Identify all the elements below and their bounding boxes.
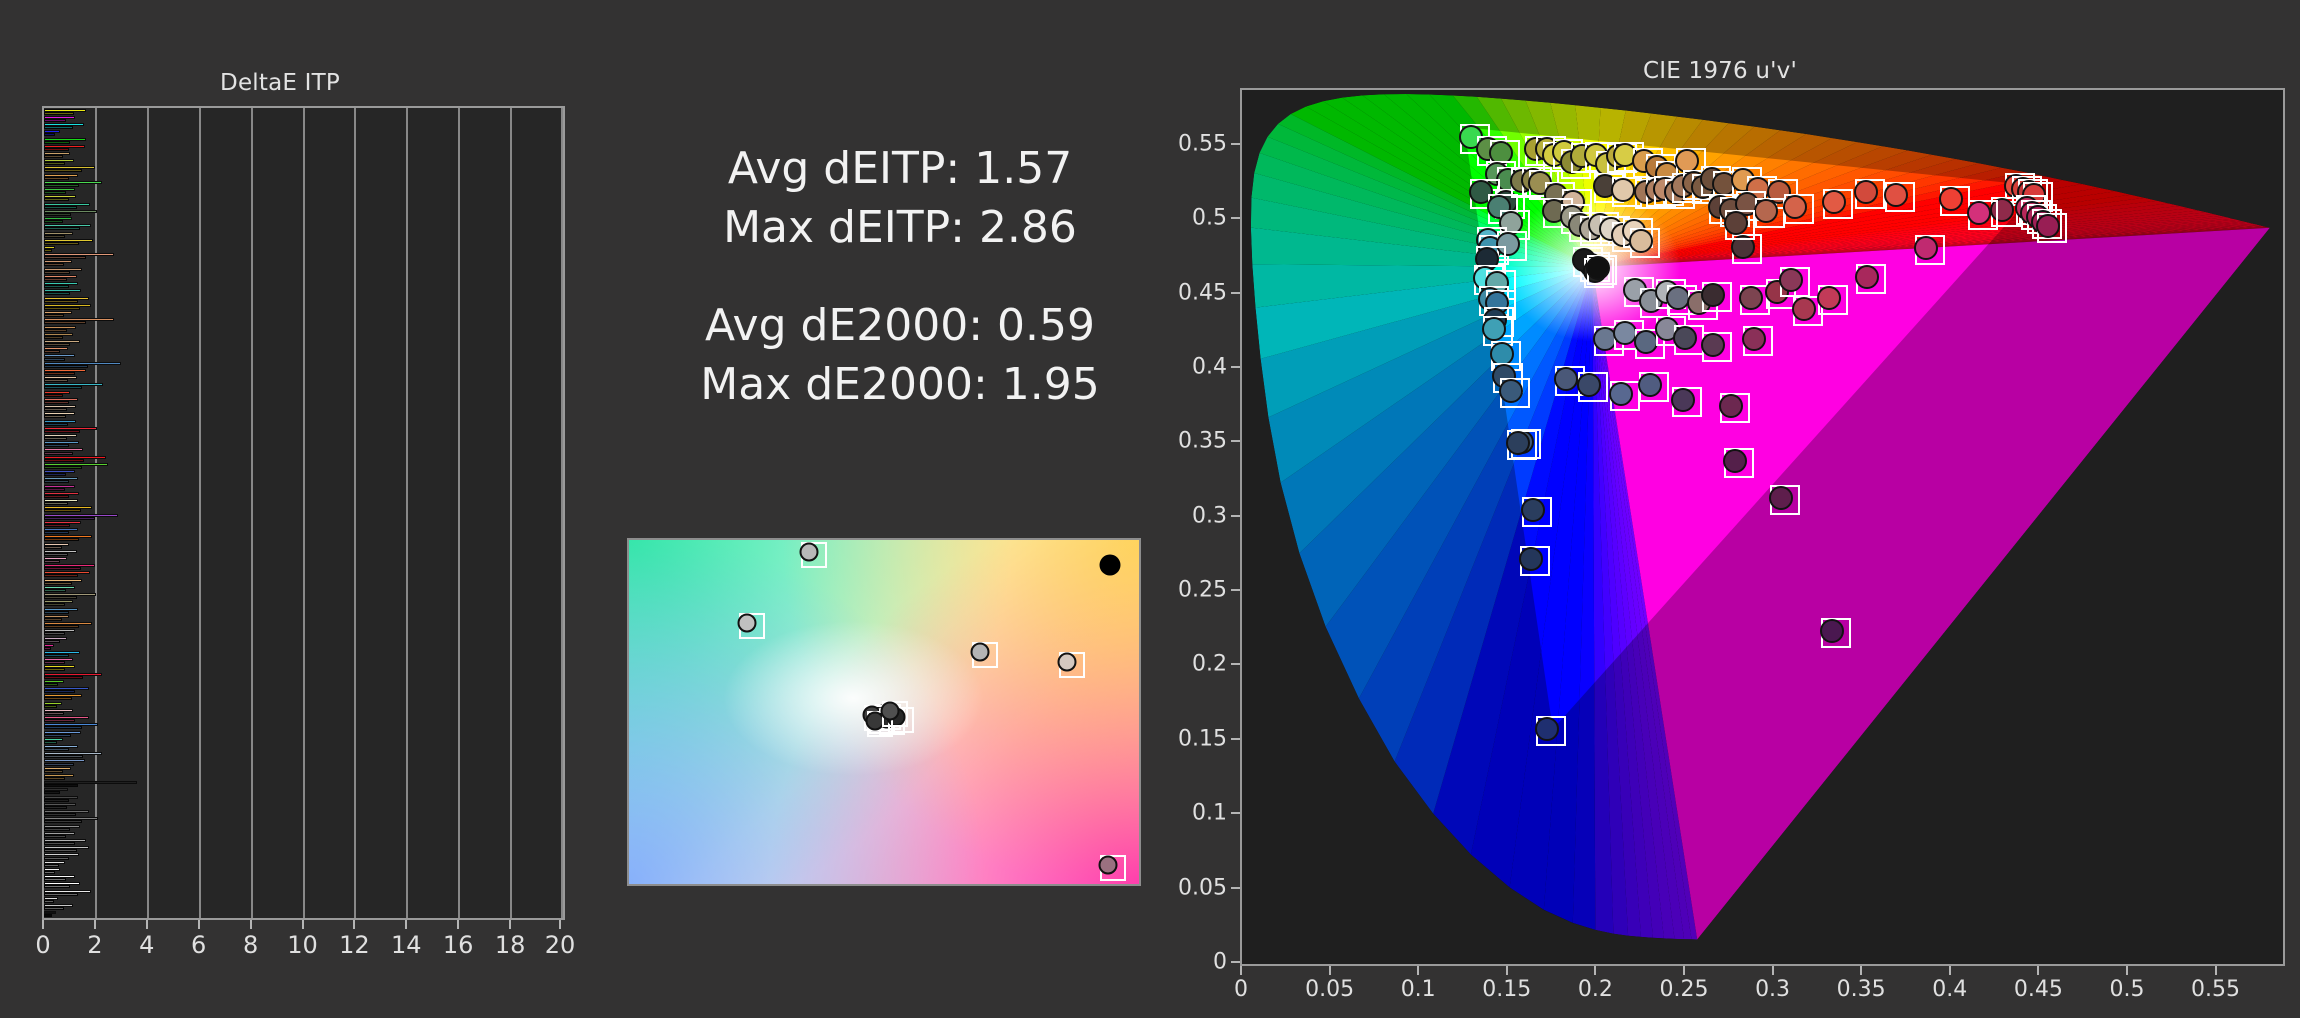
deltae-x-tick-label: 4 <box>139 931 154 959</box>
deltae-bar-de2000 <box>44 386 82 389</box>
cie-x-axis: 00.050.10.150.20.250.30.350.40.450.50.55 <box>1240 966 2285 1012</box>
deltae-bar-de2000 <box>44 625 79 628</box>
deltae-x-tick <box>198 920 200 929</box>
cie-x-tick <box>2126 966 2128 975</box>
deltae-bar-de2000 <box>44 791 60 794</box>
deltae-bar-de2000 <box>44 177 69 180</box>
deltae-bar-de2000 <box>44 488 65 491</box>
cie-measurement-dot[interactable] <box>1914 236 1938 260</box>
cie-y-tick <box>1231 663 1240 665</box>
cie-measurement-dot[interactable] <box>1673 326 1697 350</box>
deltae-x-tick <box>559 920 561 929</box>
deltae-gridline <box>458 108 460 918</box>
cie-y-tick <box>1231 515 1240 517</box>
deltae-bar-de2000 <box>44 632 65 635</box>
cie-measurement-dot[interactable] <box>1783 195 1807 219</box>
deltae-bar-de2000 <box>44 350 60 353</box>
deltae-gridline <box>303 108 305 918</box>
cie-measurement-dot[interactable] <box>1719 394 1743 418</box>
cie-measurement-dot[interactable] <box>1609 382 1633 406</box>
cie-y-tick-label: 0.45 <box>1178 280 1227 305</box>
deltae-bar-de2000 <box>44 242 79 245</box>
cie-x-tick <box>2037 966 2039 975</box>
deltae-x-tick-label: 2 <box>87 931 102 959</box>
cie-measurement-dot[interactable] <box>1629 229 1653 253</box>
deltae-bar-de2000 <box>44 509 81 512</box>
deltae-bar-de2000 <box>44 813 76 816</box>
deltae-bar-de2000 <box>44 285 69 288</box>
deltae-bar-de2000 <box>44 358 65 361</box>
max-deitp-value: Max dEITP: 2.86 <box>620 199 1180 258</box>
deltae-bar-de2000 <box>44 835 66 838</box>
deltae-bar-de2000 <box>44 365 88 368</box>
deltae-x-tick-label: 16 <box>443 931 474 959</box>
deltae-bar-de2000 <box>44 502 68 505</box>
cie-x-tick-label: 0.25 <box>1659 977 1708 1002</box>
cie-measurement-dot[interactable] <box>1521 498 1545 522</box>
deltae-x-tick <box>146 920 148 929</box>
deltae-bar-de2000 <box>44 726 82 729</box>
cie-measurement-dot[interactable] <box>1535 717 1559 741</box>
deltae-x-tick <box>94 920 96 929</box>
deltae-bar-de2000 <box>44 336 63 339</box>
deltae-bar-de2000 <box>44 278 67 281</box>
cie-measurement-dot[interactable] <box>1884 183 1908 207</box>
cie-x-tick-label: 0.35 <box>1837 977 1886 1002</box>
cie-y-tick <box>1231 143 1240 145</box>
cie-y-tick <box>1231 366 1240 368</box>
deltae-bar-de2000 <box>44 640 60 643</box>
deltae-bar-de2000 <box>44 206 77 209</box>
deltae-gridline <box>406 108 408 918</box>
cie-measurement-dot[interactable] <box>1742 327 1766 351</box>
cie-y-tick-label: 0.4 <box>1192 354 1227 379</box>
cie-measurement-dot[interactable] <box>1671 388 1695 412</box>
deltae-bar-de2000 <box>44 560 60 563</box>
cie-measurement-dot[interactable] <box>1701 333 1725 357</box>
deltae-bar-de2000 <box>44 191 66 194</box>
deltae-bar-de2000 <box>44 799 69 802</box>
cie-y-tick <box>1231 292 1240 294</box>
deltae-bar-de2000 <box>44 777 65 780</box>
deltae-bar-de2000 <box>44 394 63 397</box>
cie-plot-area[interactable] <box>1240 88 2285 966</box>
cie-x-tick <box>1860 966 1862 975</box>
deltae-bar-de2000 <box>44 661 65 664</box>
deltae-bar-de2000 <box>44 263 64 266</box>
deltae-bar-de2000 <box>44 806 67 809</box>
cie-y-tick-label: 0.35 <box>1178 429 1227 454</box>
deltae-bar-de2000 <box>44 126 73 129</box>
cie-y-tick-label: 0.55 <box>1178 131 1227 156</box>
deltae-bar-de2000 <box>44 654 69 657</box>
deltae-bar-de2000 <box>44 734 71 737</box>
deltae-bar-de2000 <box>44 755 83 758</box>
deltae-bar-de2000 <box>44 871 55 874</box>
deltae-bar-de2000 <box>44 763 74 766</box>
deltae-bar-de2000 <box>44 828 70 831</box>
cie-measurement-dot[interactable] <box>2036 214 2060 238</box>
deltae-bar-de2000 <box>44 596 77 599</box>
deltae-bar-de2000 <box>44 849 77 852</box>
cie-x-tick-label: 0.15 <box>1482 977 1531 1002</box>
readout-spacer <box>620 257 1180 297</box>
deltae-x-tick-label: 18 <box>495 931 526 959</box>
deltae-bar-de2000 <box>44 480 69 483</box>
deltae-bar-de2000 <box>44 292 70 295</box>
deltae-gridline <box>510 108 512 918</box>
deltae-x-tick <box>250 920 252 929</box>
cie-x-tick <box>1240 966 1242 975</box>
cie-measurement-dot[interactable] <box>1666 286 1690 310</box>
cie-x-tick-label: 0.05 <box>1305 977 1354 1002</box>
deltae-bar-de2000 <box>44 198 69 201</box>
deltae-bar-de2000 <box>44 524 70 527</box>
deltae-bar-de2000 <box>44 567 81 570</box>
deltae-gridline <box>354 108 356 918</box>
cie-measurement-dot[interactable] <box>1506 431 1530 455</box>
deltae-bar-de2000 <box>44 690 75 693</box>
deltae-bar-de2000 <box>44 329 67 332</box>
deltae-bar-de2000 <box>44 423 68 426</box>
ab-measurement-dot[interactable] <box>1099 554 1120 575</box>
cie-measurement-dot[interactable] <box>1482 317 1506 341</box>
deltae-bar-de2000 <box>44 372 75 375</box>
deltae-bar-de2000 <box>44 307 80 310</box>
cie-measurement-dot[interactable] <box>1754 199 1778 223</box>
deltae-x-tick-label: 6 <box>191 931 206 959</box>
deltae-x-tick-label: 10 <box>287 931 318 959</box>
deltae-bar-de2000 <box>44 343 70 346</box>
cie-x-tick-label: 0 <box>1234 977 1248 1002</box>
deltae-gridline <box>147 108 149 918</box>
cie-measurement-dot[interactable] <box>1779 268 1803 292</box>
deltae-bar-de2000 <box>44 864 59 867</box>
deltae-itp-plot-area[interactable] <box>42 106 565 920</box>
deltae-bar-de2000 <box>44 531 69 534</box>
cie-measurement-dot[interactable] <box>1638 373 1662 397</box>
deltae-bar-de2000 <box>44 256 86 259</box>
avg-deitp-value: Avg dEITP: 1.57 <box>620 140 1180 199</box>
deltae-bar-de2000 <box>44 582 72 585</box>
cie-1976-uv-panel: CIE 1976 u'v' 00.050.10.150.20.250.30.35… <box>1190 58 2300 958</box>
deltae-bar-de2000 <box>44 133 55 136</box>
cie-x-tick <box>1506 966 1508 975</box>
deltae-bar-de2000 <box>44 611 69 614</box>
cie-x-tick <box>1417 966 1419 975</box>
deltae-bar-de2000 <box>44 473 66 476</box>
cie-x-tick <box>1949 966 1951 975</box>
deltae-bar-de2000 <box>44 893 78 896</box>
deltae-bar-de2000 <box>44 683 58 686</box>
deltae-bar-de2000 <box>44 227 80 230</box>
deltae-bar-de2000 <box>44 668 65 671</box>
deltae-bar-de2000 <box>44 452 73 455</box>
deltae-bar-de2000 <box>44 162 65 165</box>
deltae-bar-de2000 <box>44 213 71 216</box>
cie-y-tick <box>1231 887 1240 889</box>
deltae-x-tick-label: 8 <box>243 931 258 959</box>
cie-y-axis: 00.050.10.150.20.250.30.350.40.450.50.55 <box>1190 88 1240 966</box>
deltae-bar-de2000 <box>44 459 84 462</box>
deltae-bar-de2000 <box>44 741 57 744</box>
cie-y-tick-label: 0.1 <box>1192 801 1227 826</box>
deltae-bar-de2000 <box>44 705 57 708</box>
deltae-bar-de2000 <box>44 784 78 787</box>
cie-measurement-dot[interactable] <box>1577 373 1601 397</box>
cielab-ab-panel[interactable] <box>627 538 1141 886</box>
deltae-x-tick <box>457 920 459 929</box>
deltae-bar-de2000 <box>44 907 64 910</box>
cie-measurement-dot[interactable] <box>1701 283 1725 307</box>
deltae-bar-de2000 <box>44 538 79 541</box>
cie-y-tick <box>1231 812 1240 814</box>
deltae-gridline <box>199 108 201 918</box>
cie-x-tick-label: 0.5 <box>2109 977 2144 1002</box>
cie-measurement-dot[interactable] <box>1939 187 1963 211</box>
cie-y-tick <box>1231 589 1240 591</box>
deltae-x-tick <box>509 920 511 929</box>
deltae-gridline <box>251 108 253 918</box>
cie-y-tick <box>1231 217 1240 219</box>
deltae-bar-de2000 <box>44 885 70 888</box>
cie-y-tick-label: 0 <box>1213 950 1227 975</box>
deltae-bar-de2000 <box>44 546 62 549</box>
cie-1976-uv-title: CIE 1976 u'v' <box>1190 58 2250 84</box>
deltae-bar-de2000 <box>44 141 70 144</box>
avg-de2000-value: Avg dE2000: 0.59 <box>620 297 1180 356</box>
deltae-bar-de2000 <box>44 647 51 650</box>
deltae-bar-de2000 <box>44 603 65 606</box>
cie-x-tick-label: 0.4 <box>1932 977 1967 1002</box>
deltae-x-tick <box>353 920 355 929</box>
deltae-bar-de2000 <box>44 408 67 411</box>
cie-measurement-dot[interactable] <box>1967 201 1991 225</box>
cie-measurement-dot[interactable] <box>1519 547 1543 571</box>
deltae-gridline <box>561 108 563 918</box>
deltae-bar-de2000 <box>44 437 67 440</box>
deltae-bar-de2000 <box>44 553 68 556</box>
ab-measurement-dot[interactable] <box>738 614 757 633</box>
cie-y-tick-label: 0.3 <box>1192 503 1227 528</box>
deltae-bar-de2000 <box>44 271 70 274</box>
cie-x-tick <box>1329 966 1331 975</box>
deltae-bar-de2000 <box>44 148 69 151</box>
cie-measurement-dot[interactable] <box>1586 256 1610 280</box>
cie-measurement-dot[interactable] <box>1611 178 1635 202</box>
cie-y-tick-label: 0.15 <box>1178 726 1227 751</box>
deltae-bar-de2000 <box>44 155 63 158</box>
deltae-bar-de2000 <box>44 401 69 404</box>
cie-x-tick <box>1683 966 1685 975</box>
deltae-bar-de2000 <box>44 379 68 382</box>
cie-measurement-dot[interactable] <box>1634 330 1658 354</box>
cie-y-tick <box>1231 961 1240 963</box>
cie-measurement-dot[interactable] <box>1499 379 1523 403</box>
deltae-bar-de2000 <box>44 857 69 860</box>
deltae-bar-de2000 <box>44 314 64 317</box>
deltae-itp-x-axis: 02468101214161820 <box>42 920 565 966</box>
deltae-bar-de2000 <box>44 589 66 592</box>
cie-measurement-dot[interactable] <box>1724 211 1748 235</box>
deltae-bar-de2000 <box>44 842 75 845</box>
deltae-bar-de2000 <box>44 676 83 679</box>
max-de2000-value: Max dE2000: 1.95 <box>620 356 1180 415</box>
ab-measurement-dot[interactable] <box>800 543 819 562</box>
ab-measurement-dot[interactable] <box>1057 653 1076 672</box>
deltae-bar-de2000 <box>44 415 66 418</box>
ab-measurement-dot[interactable] <box>1099 856 1118 875</box>
cie-measurement-dot[interactable] <box>1822 190 1846 214</box>
cie-x-tick <box>1594 966 1596 975</box>
deltae-x-tick-label: 0 <box>35 931 50 959</box>
deltae-itp-title: DeltaE ITP <box>0 70 580 96</box>
deltae-bar-de2000 <box>44 574 78 577</box>
deltae-bar-de2000 <box>44 444 69 447</box>
cie-measurement-dot[interactable] <box>1855 265 1879 289</box>
deltae-bar-de2000 <box>44 184 79 187</box>
cie-x-tick-label: 0.55 <box>2191 977 2240 1002</box>
cie-measurement-dot[interactable] <box>1769 486 1793 510</box>
deltae-x-tick-label: 12 <box>339 931 370 959</box>
deltae-bar-de2000 <box>44 878 66 881</box>
cie-y-tick-label: 0.25 <box>1178 578 1227 603</box>
cie-measurement-dot[interactable] <box>1554 367 1578 391</box>
deltae-bar-de2000 <box>44 914 52 917</box>
cie-x-tick-label: 0.3 <box>1755 977 1790 1002</box>
deltae-bar-de2000 <box>44 770 63 773</box>
deltae-bar-de2000 <box>44 430 80 433</box>
cie-y-tick-label: 0.05 <box>1178 875 1227 900</box>
cie-x-tick <box>1772 966 1774 975</box>
cie-x-tick-label: 0.2 <box>1578 977 1613 1002</box>
cie-y-tick <box>1231 440 1240 442</box>
deltae-bar-de2000 <box>44 517 95 520</box>
cie-x-tick <box>2215 966 2217 975</box>
cie-measurement-dot[interactable] <box>1739 286 1763 310</box>
deltae-x-tick-label: 14 <box>391 931 422 959</box>
cie-measurement-dot[interactable] <box>1792 297 1816 321</box>
deltae-x-tick <box>405 920 407 929</box>
cie-measurement-dot[interactable] <box>1723 449 1747 473</box>
deltae-bar-de2000 <box>44 712 64 715</box>
deltae-x-tick-label: 20 <box>545 931 576 959</box>
deltae-bar-de2000 <box>44 169 82 172</box>
cie-measurement-dot[interactable] <box>1817 286 1841 310</box>
deltae-bar-de2000 <box>44 249 52 252</box>
cie-measurement-dot[interactable] <box>1854 180 1878 204</box>
cie-x-tick-label: 0.45 <box>2014 977 2063 1002</box>
cie-y-tick <box>1231 738 1240 740</box>
deltae-bar-de2000 <box>44 495 69 498</box>
cie-x-tick-label: 0.1 <box>1401 977 1436 1002</box>
deltae-bar-de2000 <box>44 618 62 621</box>
deltae-bar-de2000 <box>44 719 75 722</box>
deltae-bar-de2000 <box>44 300 78 303</box>
deltae-bar-de2000 <box>44 466 82 469</box>
deltae-bar-de2000 <box>44 748 69 751</box>
deltae-bar-de2000 <box>44 112 74 115</box>
deltae-bar-de2000 <box>44 220 63 223</box>
deltae-bar-de2000 <box>44 697 72 700</box>
ab-measurement-dot[interactable] <box>880 702 899 721</box>
cie-measurement-dot[interactable] <box>1820 619 1844 643</box>
deltae-bar-de2000 <box>44 900 54 903</box>
calibration-report-root: DeltaE ITP 02468101214161820 Avg dEITP: … <box>0 0 2300 1018</box>
cie-y-tick-label: 0.5 <box>1192 206 1227 231</box>
deltae-bar-de2000 <box>44 321 86 324</box>
delta-e-summary-readout: Avg dEITP: 1.57 Max dEITP: 2.86 Avg dE20… <box>620 140 1180 414</box>
deltae-bar-de2000 <box>44 820 82 823</box>
cie-y-tick-label: 0.2 <box>1192 652 1227 677</box>
deltae-x-tick <box>302 920 304 929</box>
deltae-bar-de2000 <box>44 235 65 238</box>
deltae-bar-de2000 <box>44 119 66 122</box>
ab-measurement-dot[interactable] <box>970 642 989 661</box>
deltae-itp-panel: DeltaE ITP 02468101214161820 <box>0 70 600 930</box>
deltae-x-tick <box>42 920 44 929</box>
